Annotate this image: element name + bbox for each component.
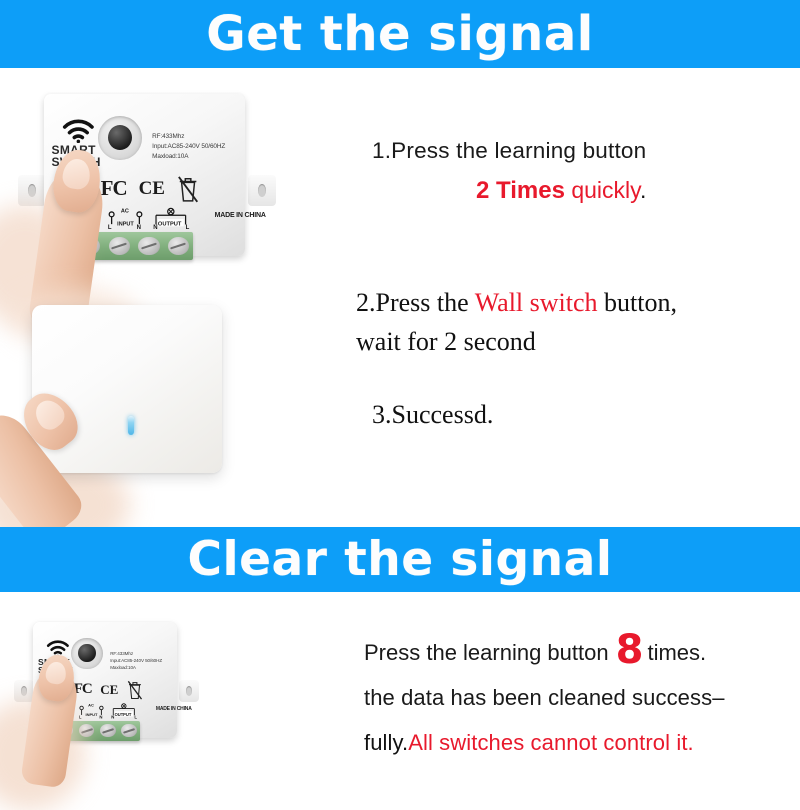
spec-rf: RF:433Mhz xyxy=(152,132,225,142)
mounting-ear-right xyxy=(179,680,199,702)
learning-button[interactable] xyxy=(98,116,142,160)
screw-terminal-block xyxy=(75,232,194,260)
clear-line3: fully.All switches cannot control it. xyxy=(364,730,800,756)
terminal-screw xyxy=(138,237,159,255)
mounting-ear-left xyxy=(18,175,46,206)
svg-text:OUTPUT: OUTPUT xyxy=(114,712,131,717)
step-2-text: 2.Press the Wall switch button, wait for… xyxy=(356,288,800,357)
terminal-screw xyxy=(121,724,136,737)
spec-rf: RF:433Mhz xyxy=(110,650,162,657)
learning-button[interactable] xyxy=(71,638,102,670)
svg-text:N: N xyxy=(153,226,157,231)
clear-line1-suffix: times. xyxy=(647,640,706,666)
svg-text:L: L xyxy=(108,226,112,231)
device-brand-line2: SWITCH xyxy=(52,156,101,168)
step1-highlight: 2 Times xyxy=(476,177,565,204)
terminal-screw xyxy=(168,237,189,255)
mounting-ear-right xyxy=(248,175,276,206)
terminal-screw xyxy=(100,724,115,737)
spec-maxload: Maxload:10A xyxy=(152,152,225,162)
terminal-screw xyxy=(109,237,130,255)
wall-switch-plate[interactable] xyxy=(32,305,222,473)
banner-title-clear-signal: Clear the signal xyxy=(188,536,613,583)
weee-bin-icon xyxy=(127,680,143,700)
certification-marks: Hs FC CE xyxy=(75,175,245,203)
wall-switch-panel[interactable] xyxy=(32,305,222,473)
step1-line2: 2 Times quickly. xyxy=(372,177,800,205)
rohs-icon: Hs xyxy=(55,685,66,695)
led-indicator xyxy=(128,416,134,435)
svg-text:N: N xyxy=(111,715,114,720)
step2-highlight: Wall switch xyxy=(475,288,598,317)
banner-clear-the-signal: Clear the signal xyxy=(0,527,800,592)
step2-line1: 2.Press the Wall switch button, xyxy=(356,288,800,318)
fcc-icon: FC xyxy=(74,681,92,698)
svg-text:INPUT: INPUT xyxy=(85,712,97,717)
device-brand: SMART SWITCH xyxy=(52,144,101,168)
banner-get-the-signal: Get the signal xyxy=(0,0,800,68)
svg-text:INPUT: INPUT xyxy=(117,222,134,228)
svg-text:OUTPUT: OUTPUT xyxy=(158,222,182,228)
device-brand-line1: SMART xyxy=(52,144,101,156)
svg-text:AC: AC xyxy=(88,703,94,708)
clear-line1-prefix: Press the learning button xyxy=(364,640,609,666)
clear-line1: Press the learning button 8 times. xyxy=(364,632,800,666)
svg-text:L: L xyxy=(134,715,137,720)
rohs-icon: Hs xyxy=(75,181,89,196)
wifi-icon xyxy=(59,119,98,143)
instruction-infographic: Get the signal SMART SWITCH xyxy=(0,0,800,800)
device-specs: RF:433Mhz Input:AC85-240V 50/60HZ Maxloa… xyxy=(110,650,162,671)
svg-text:N: N xyxy=(137,226,141,231)
certification-marks: Hs FC CE xyxy=(55,680,177,700)
device-specs: RF:433Mhz Input:AC85-240V 50/60HZ Maxloa… xyxy=(152,132,225,162)
step1-period: . xyxy=(640,177,646,203)
weee-bin-icon xyxy=(177,175,199,203)
banner-title-get-signal: Get the signal xyxy=(206,10,593,58)
clear-big-number: 8 xyxy=(616,635,644,665)
made-in-label: MADE IN CHINA xyxy=(215,212,266,219)
svg-text:AC: AC xyxy=(121,209,129,215)
svg-text:L: L xyxy=(79,715,82,720)
wifi-icon xyxy=(44,640,72,657)
ce-icon: CE xyxy=(139,178,165,200)
ce-icon: CE xyxy=(100,682,118,698)
spec-input: Input:AC85-240V 50/60HZ xyxy=(110,657,162,664)
step-3-text: 3.Successd. xyxy=(372,400,800,430)
made-in-label: MADE IN CHINA xyxy=(156,706,192,712)
svg-text:L: L xyxy=(186,226,190,231)
device-brand: SMART SWITCH xyxy=(38,658,73,675)
device-brand-line2: SWITCH xyxy=(38,666,73,675)
clear-line3-highlight: All switches cannot control it. xyxy=(408,730,694,755)
step3-line1: 3.Successd. xyxy=(372,400,800,430)
terminal-screw xyxy=(79,237,100,255)
step1-suffix: quickly xyxy=(565,177,640,203)
step-1-text: 1.Press the learning button 2 Times quic… xyxy=(372,138,800,205)
svg-text:N: N xyxy=(99,715,102,720)
step2-suffix: button, xyxy=(598,288,677,317)
step1-line1: 1.Press the learning button xyxy=(372,138,800,164)
clear-line3-prefix: fully. xyxy=(364,730,408,755)
clear-signal-text: Press the learning button 8 times. the d… xyxy=(364,632,800,756)
step2-prefix: 2.Press the xyxy=(356,288,475,317)
step2-line2: wait for 2 second xyxy=(356,327,800,357)
spec-maxload: Maxload:10A xyxy=(110,664,162,671)
clear-line2: the data has been cleaned success– xyxy=(364,685,800,711)
spec-input: Input:AC85-240V 50/60HZ xyxy=(152,142,225,152)
fcc-icon: FC xyxy=(101,176,127,201)
